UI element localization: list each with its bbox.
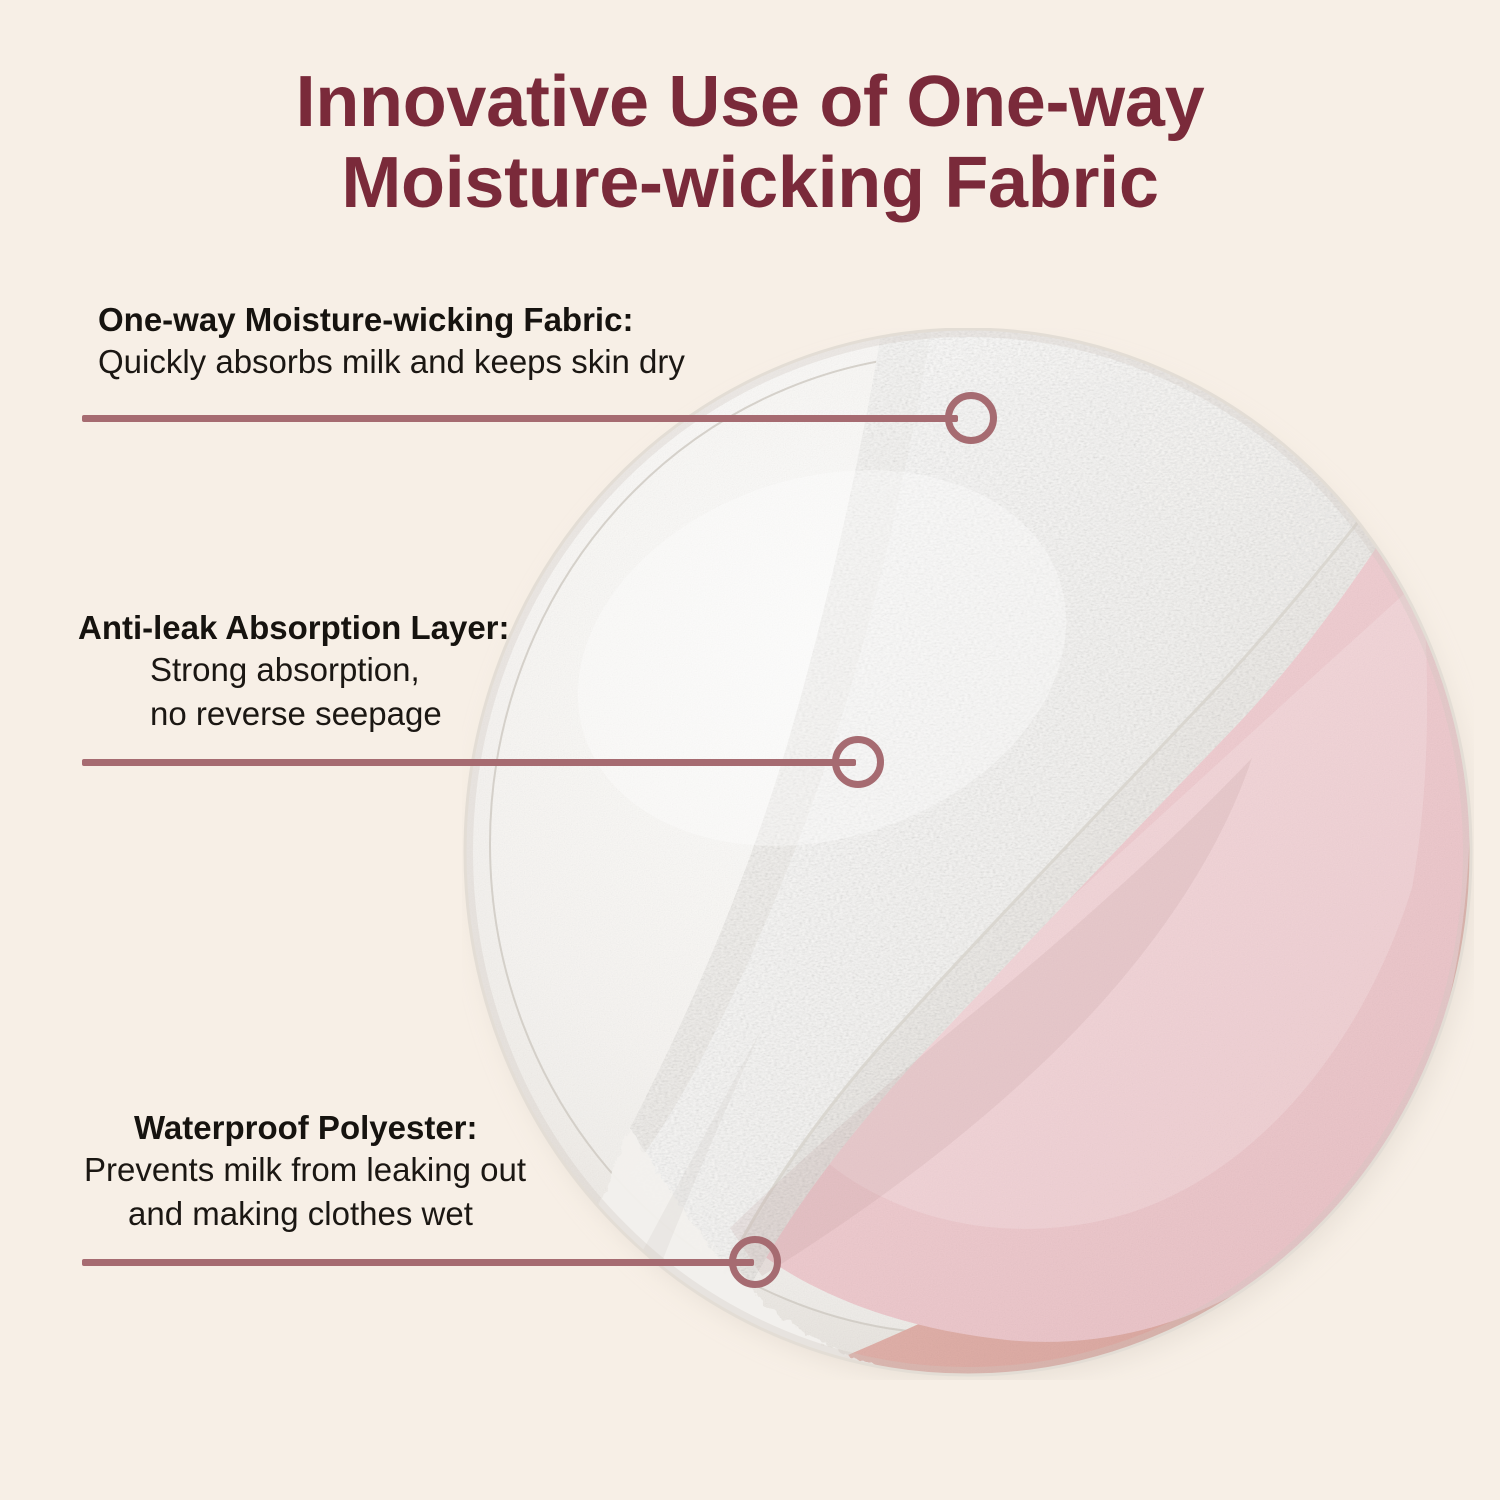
callout-1-body-line-1: Quickly absorbs milk and keeps skin dry: [98, 340, 685, 384]
leader-dot-3: [729, 1236, 781, 1288]
callout-1-title: One-way Moisture-wicking Fabric:: [98, 300, 685, 340]
callout-3-body: Prevents milk from leaking out and makin…: [84, 1148, 526, 1236]
callout-3-body-line-1: Prevents milk from leaking out: [84, 1148, 526, 1192]
page-title: Innovative Use of One-way Moisture-wicki…: [0, 62, 1500, 225]
leader-dot-2: [832, 736, 884, 788]
callout-2-title: Anti-leak Absorption Layer:: [78, 608, 510, 648]
title-line-1: Innovative Use of One-way: [0, 62, 1500, 143]
callout-2-body-line-1: Strong absorption,: [150, 648, 510, 692]
leader-line-2: [82, 759, 856, 766]
callout-waterproof-polyester: Waterproof Polyester: Prevents milk from…: [134, 1108, 526, 1236]
leader-line-1: [82, 415, 958, 422]
leader-dot-1: [945, 392, 997, 444]
callout-2-body-line-2: no reverse seepage: [150, 692, 510, 736]
leader-line-3: [82, 1259, 754, 1266]
product-illustration: [462, 328, 1474, 1380]
callout-2-body: Strong absorption, no reverse seepage: [78, 648, 510, 736]
callout-3-body-line-2: and making clothes wet: [84, 1192, 526, 1236]
callout-3-title: Waterproof Polyester:: [134, 1108, 526, 1148]
callout-anti-leak-absorption-layer: Anti-leak Absorption Layer: Strong absor…: [78, 608, 510, 736]
title-line-2: Moisture-wicking Fabric: [0, 143, 1500, 224]
callout-one-way-moisture-wicking-fabric: One-way Moisture-wicking Fabric: Quickly…: [98, 300, 685, 384]
infographic-canvas: Innovative Use of One-way Moisture-wicki…: [0, 0, 1500, 1500]
